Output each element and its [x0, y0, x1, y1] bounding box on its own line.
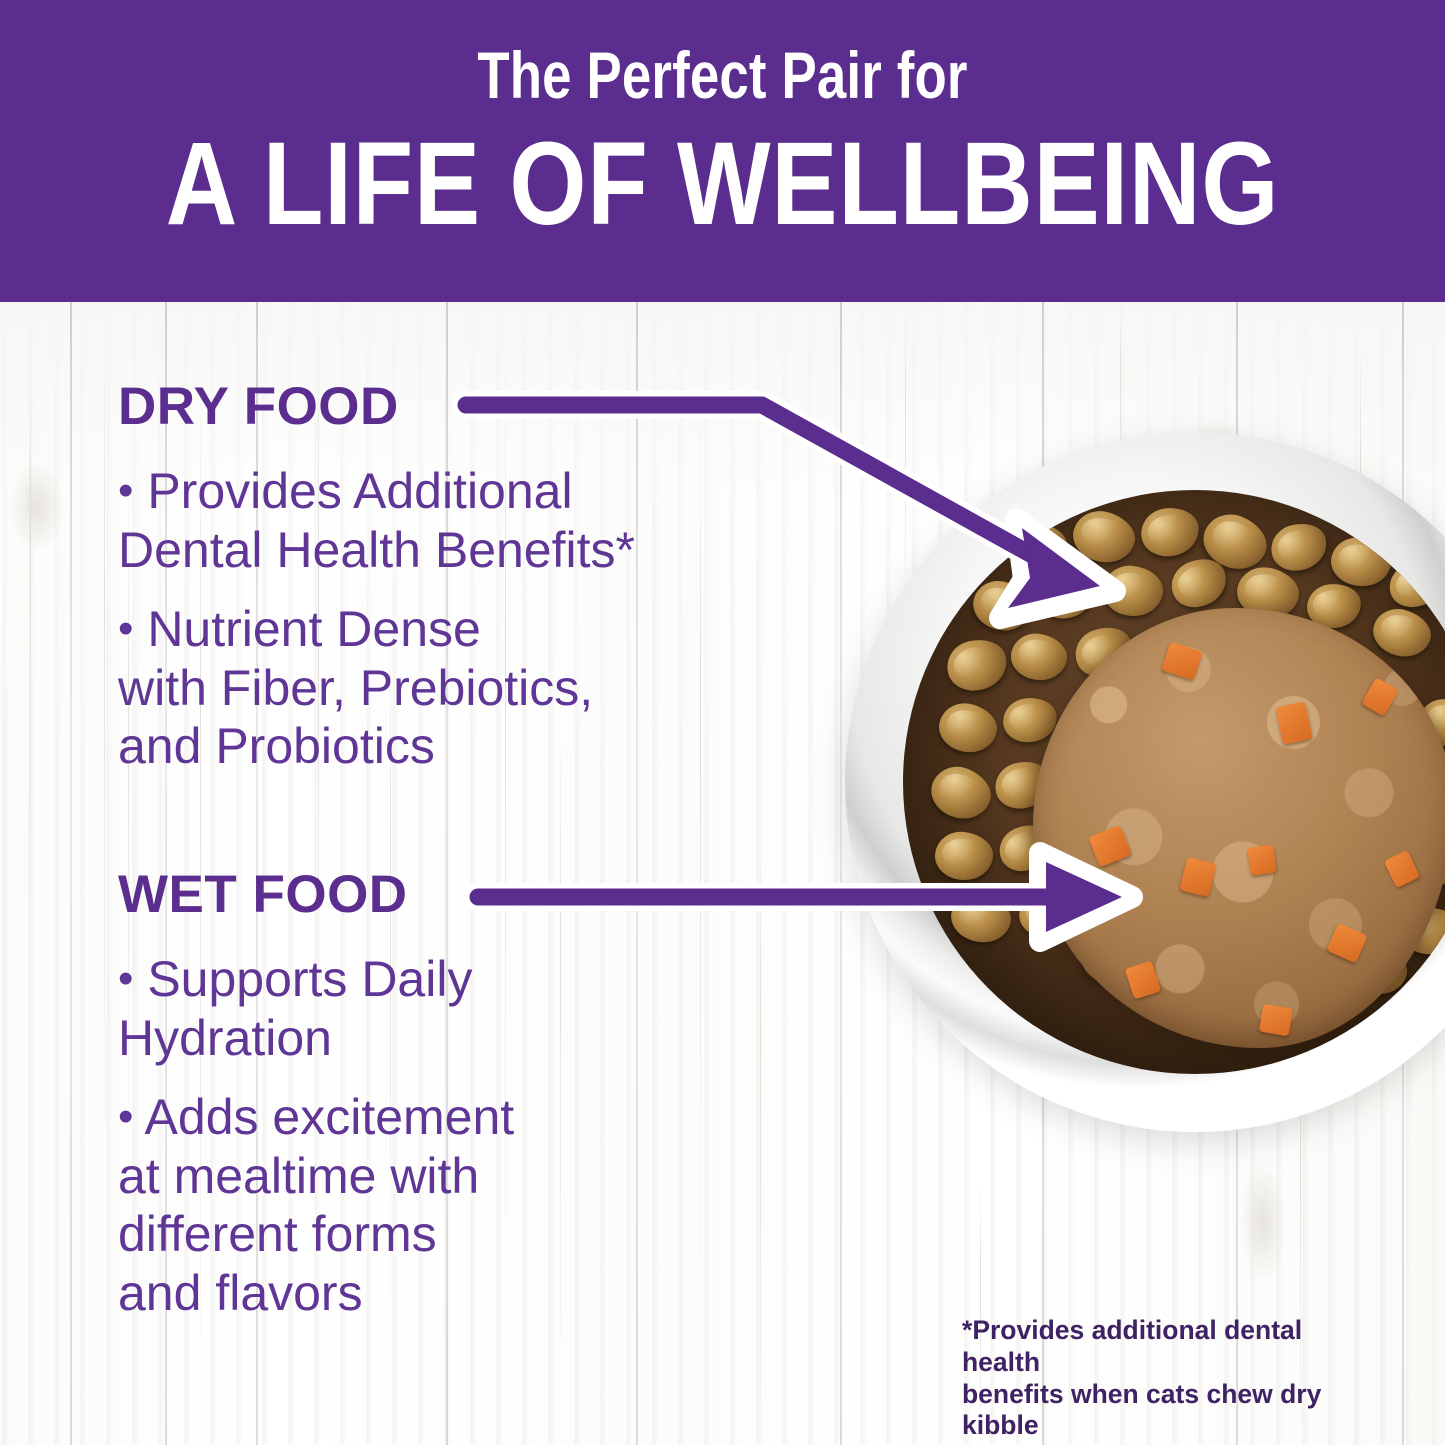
footnote-line-1: *Provides additional dental health — [962, 1315, 1382, 1379]
bullet-text: • Adds excitement at mealtime with diffe… — [118, 1088, 758, 1322]
dry-food-heading: DRY FOOD — [118, 380, 758, 433]
bullet-dot-icon: • — [118, 604, 133, 653]
wet-food-section: WET FOOD — [118, 868, 758, 921]
wet-food-bullet-1: • Supports Daily Hydration — [118, 950, 758, 1067]
bullet-dot-icon: • — [118, 954, 133, 1003]
dry-food-bullet-2: • Nutrient Dense with Fiber, Prebiotics,… — [118, 600, 758, 776]
header-subtitle: The Perfect Pair for — [145, 42, 1301, 108]
wet-food-heading: WET FOOD — [118, 868, 758, 921]
bullet-dot-icon: • — [118, 466, 133, 515]
bullet-text: • Supports Daily Hydration — [118, 950, 758, 1067]
dry-food-bullet-1: • Provides Additional Dental Health Bene… — [118, 462, 758, 579]
bullet-line: different forms — [118, 1206, 437, 1262]
bullet-line: Hydration — [118, 1010, 332, 1066]
bullet-line: Provides Additional — [147, 463, 572, 519]
header-banner: The Perfect Pair for A LIFE OF WELLBEING — [0, 0, 1445, 302]
infographic-root: The Perfect Pair for A LIFE OF WELLBEING — [0, 0, 1445, 1445]
bullet-line: at mealtime with — [118, 1148, 479, 1204]
bullet-line: Supports Daily — [147, 951, 472, 1007]
bullet-line: with Fiber, Prebiotics, — [118, 660, 593, 716]
bullet-text: • Nutrient Dense with Fiber, Prebiotics,… — [118, 600, 758, 776]
bullet-line: Dental Health Benefits* — [118, 522, 635, 578]
bullet-line: Nutrient Dense — [147, 601, 481, 657]
wet-food-pate — [1033, 608, 1445, 1048]
bullet-dot-icon: • — [118, 1092, 133, 1141]
bullet-line: Adds excitement — [145, 1089, 515, 1145]
bowl-rim — [845, 432, 1445, 1132]
footnote: *Provides additional dental health benef… — [962, 1315, 1382, 1442]
header-title: A LIFE OF WELLBEING — [116, 125, 1330, 243]
footnote-line-2: benefits when cats chew dry kibble — [962, 1379, 1382, 1443]
bullet-text: • Provides Additional Dental Health Bene… — [118, 462, 758, 579]
dry-food-section: DRY FOOD — [118, 380, 758, 433]
bowl-interior — [903, 490, 1445, 1074]
wet-food-bullet-2: • Adds excitement at mealtime with diffe… — [118, 1088, 758, 1322]
food-bowl-image — [845, 432, 1445, 1272]
bullet-line: and flavors — [118, 1265, 363, 1321]
bullet-line: and Probiotics — [118, 718, 435, 774]
